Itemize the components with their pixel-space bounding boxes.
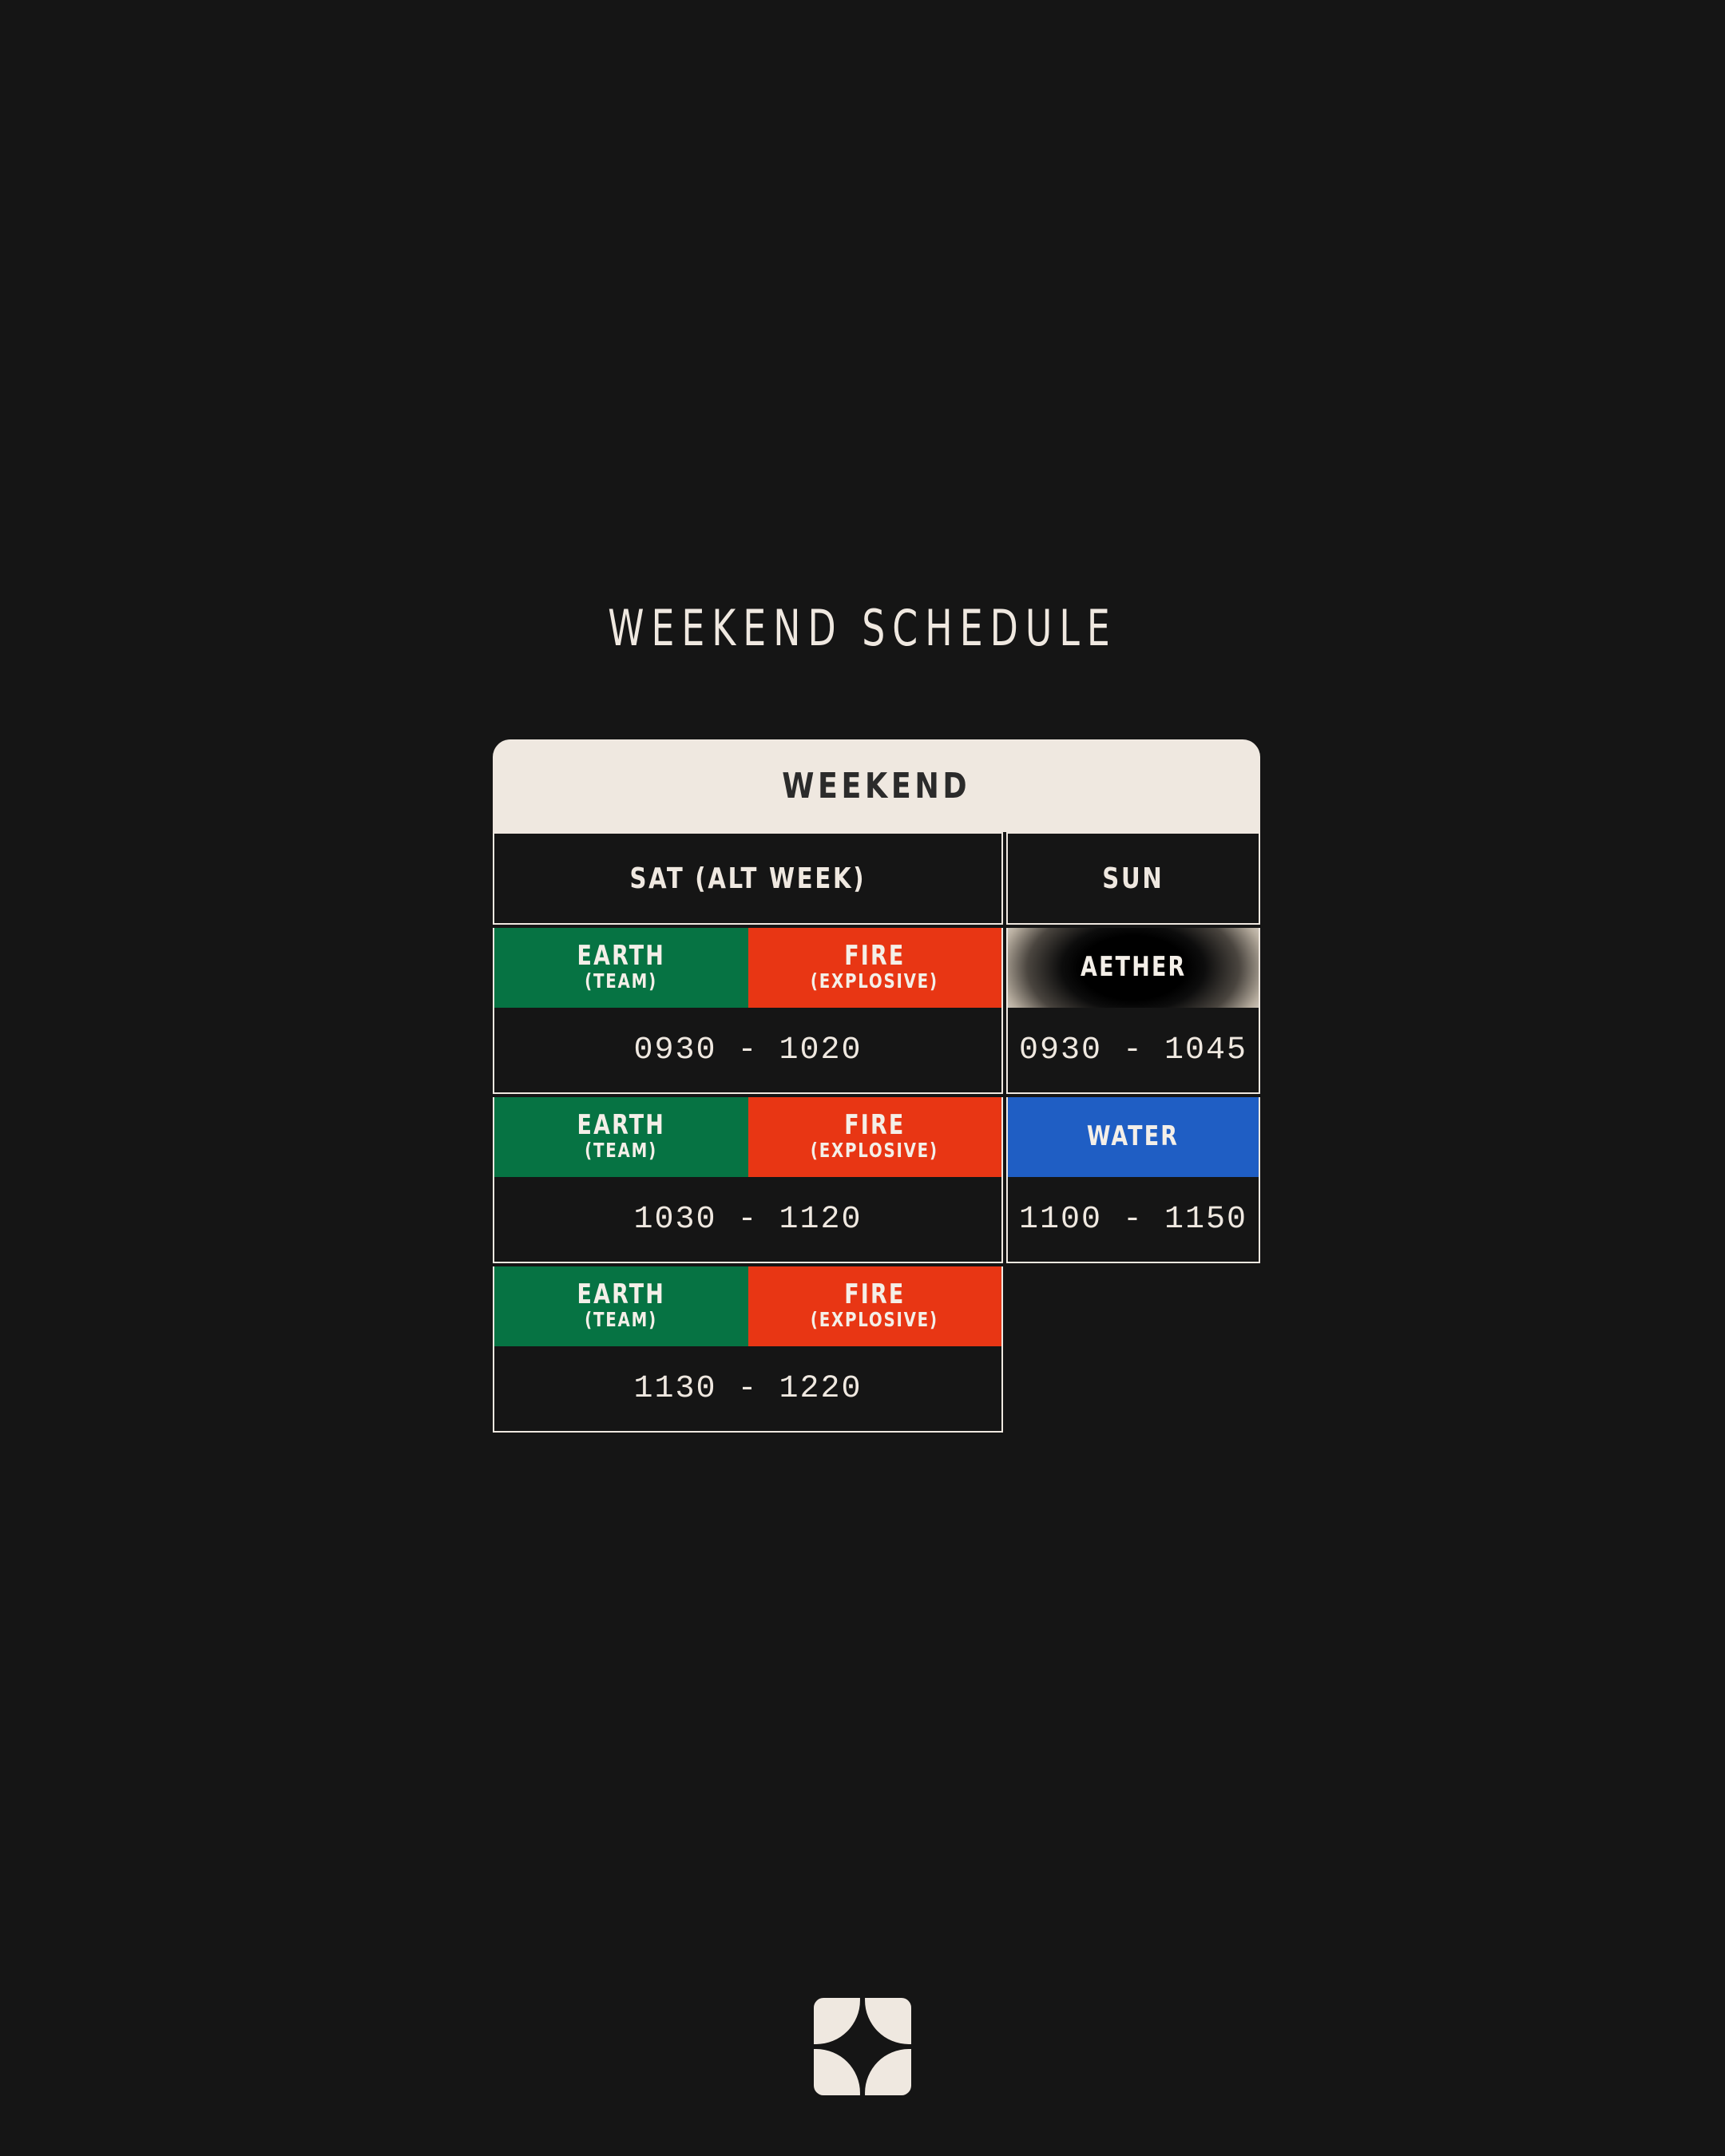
day-header-sat-label: SAT (ALT WEEK) (630, 862, 866, 895)
element-cell-earth[interactable]: EARTH (TEAM) (494, 1266, 748, 1346)
day-header-sun: SUN (1006, 832, 1260, 925)
time-label: 1030 - 1120 (633, 1202, 862, 1238)
element-subtitle: (EXPLOSIVE) (811, 1309, 938, 1332)
slot-sat-3[interactable]: EARTH (TEAM) FIRE (EXPLOSIVE) 1130 - 122… (493, 1266, 1003, 1433)
element-name: EARTH (577, 1281, 665, 1310)
element-cell-earth[interactable]: EARTH (TEAM) (494, 1097, 748, 1177)
slot-sun-1[interactable]: AETHER 0930 - 1045 (1006, 928, 1260, 1094)
element-cell-water[interactable]: WATER (1008, 1097, 1259, 1177)
time-label: 1130 - 1220 (633, 1371, 862, 1407)
poster-root: WEEKEND SCHEDULE WEEKEND SAT (ALT WEEK) … (0, 0, 1725, 2156)
slot-sat-2[interactable]: EARTH (TEAM) FIRE (EXPLOSIVE) 1030 - 112… (493, 1097, 1003, 1263)
time-label: 0930 - 1045 (1019, 1032, 1247, 1068)
time-strip: 0930 - 1020 (493, 1008, 1003, 1094)
schedule-table: WEEKEND SAT (ALT WEEK) EARTH (TEAM) (493, 739, 1260, 1433)
table-body: SAT (ALT WEEK) EARTH (TEAM) FIRE (EXPLOS… (493, 832, 1260, 1433)
element-cell-fire[interactable]: FIRE (EXPLOSIVE) (748, 1097, 1002, 1177)
day-header-sun-label: SUN (1102, 862, 1164, 895)
element-subtitle: (TEAM) (585, 1309, 657, 1332)
element-name: EARTH (577, 1112, 665, 1140)
time-strip: 1100 - 1150 (1006, 1177, 1260, 1263)
element-name: AETHER (1081, 953, 1186, 982)
time-label: 0930 - 1020 (633, 1032, 862, 1068)
slot-sat-1[interactable]: EARTH (TEAM) FIRE (EXPLOSIVE) 0930 - 102… (493, 928, 1003, 1094)
element-subtitle: (EXPLOSIVE) (811, 970, 938, 993)
four-petal-star-logo (814, 1998, 911, 2095)
element-name: FIRE (844, 1112, 905, 1140)
element-name: EARTH (577, 942, 665, 971)
time-strip: 0930 - 1045 (1006, 1008, 1260, 1094)
element-name: WATER (1087, 1123, 1179, 1151)
time-label: 1100 - 1150 (1019, 1202, 1247, 1238)
element-cell-fire[interactable]: FIRE (EXPLOSIVE) (748, 928, 1002, 1008)
element-subtitle: (EXPLOSIVE) (811, 1139, 938, 1163)
element-strip: EARTH (TEAM) FIRE (EXPLOSIVE) (493, 928, 1003, 1008)
time-strip: 1130 - 1220 (493, 1346, 1003, 1433)
element-strip: EARTH (TEAM) FIRE (EXPLOSIVE) (493, 1266, 1003, 1346)
element-subtitle: (TEAM) (585, 970, 657, 993)
element-cell-fire[interactable]: FIRE (EXPLOSIVE) (748, 1266, 1002, 1346)
table-banner: WEEKEND (493, 739, 1260, 832)
element-cell-earth[interactable]: EARTH (TEAM) (494, 928, 748, 1008)
element-name: FIRE (844, 1281, 905, 1310)
day-header-sat: SAT (ALT WEEK) (493, 832, 1003, 925)
table-banner-label: WEEKEND (782, 766, 970, 807)
column-sun: SUN AETHER 0930 - 1045 (1006, 832, 1260, 1263)
element-cell-aether[interactable]: AETHER (1008, 928, 1259, 1008)
page-title: WEEKEND SCHEDULE (155, 604, 1569, 653)
element-name: FIRE (844, 942, 905, 971)
time-strip: 1030 - 1120 (493, 1177, 1003, 1263)
element-subtitle: (TEAM) (585, 1139, 657, 1163)
column-sat: SAT (ALT WEEK) EARTH (TEAM) FIRE (EXPLOS… (493, 832, 1003, 1433)
element-strip: AETHER (1006, 928, 1260, 1008)
element-strip: WATER (1006, 1097, 1260, 1177)
slot-sun-2[interactable]: WATER 1100 - 1150 (1006, 1097, 1260, 1263)
element-strip: EARTH (TEAM) FIRE (EXPLOSIVE) (493, 1097, 1003, 1177)
